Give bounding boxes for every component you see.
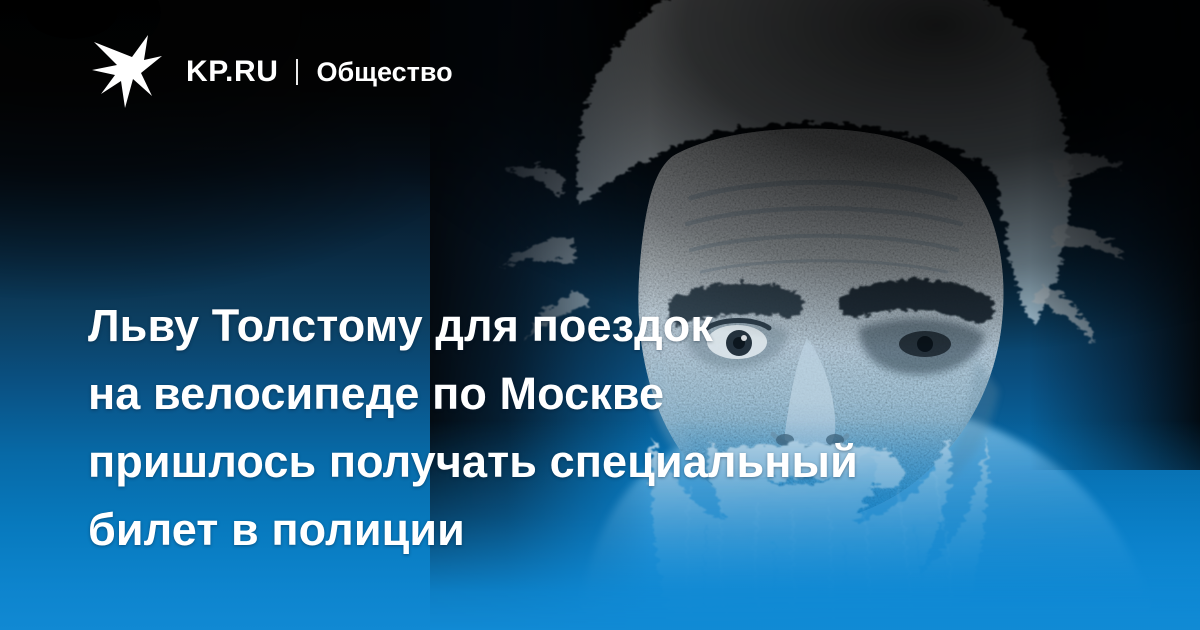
headline-line-4: билет в полиции [88, 496, 1088, 564]
brand-row: KP.RU Общество [186, 53, 453, 87]
kp-swallow-bird-icon[interactable] [92, 32, 164, 108]
social-share-card: KP.RU Общество Льву Толстому для поездок… [0, 0, 1200, 630]
headline: Льву Толстому для поездок на велосипеде … [88, 292, 1088, 564]
rubric-label[interactable]: Общество [316, 59, 452, 86]
brand-name[interactable]: KP.RU [186, 57, 278, 87]
headline-line-1: Льву Толстому для поездок [88, 292, 1088, 360]
headline-line-3: пришлось получать специальный [88, 428, 1088, 496]
brand-separator [296, 59, 298, 85]
masthead[interactable]: KP.RU Общество [92, 32, 453, 108]
headline-line-2: на велосипеде по Москве [88, 360, 1088, 428]
